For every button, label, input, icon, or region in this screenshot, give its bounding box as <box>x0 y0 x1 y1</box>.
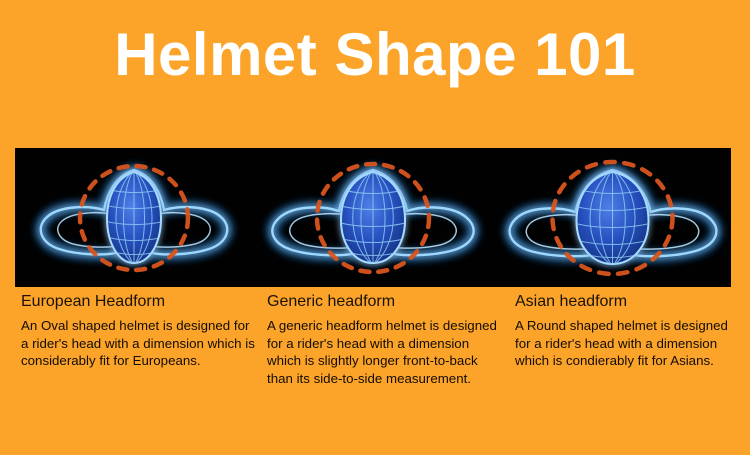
caption-heading-generic: Generic headform <box>267 292 505 312</box>
caption-row: European Headform An Oval shaped helmet … <box>0 292 750 442</box>
caption-body-generic: A generic headform helmet is designed fo… <box>267 317 505 387</box>
caption-asian: Asian headform A Round shaped helmet is … <box>515 292 740 370</box>
caption-body-european: An Oval shaped helmet is designed for a … <box>21 317 256 370</box>
helmet-shape-infographic: Helmet Shape 101 <box>0 0 750 455</box>
caption-generic: Generic headform A generic headform helm… <box>267 292 505 387</box>
caption-heading-european: European Headform <box>21 292 256 312</box>
intermediate-oval-headform-icon <box>254 148 493 287</box>
oval-headform-icon <box>15 148 254 287</box>
caption-body-asian: A Round shaped helmet is designed for a … <box>515 317 740 370</box>
headform-comparison-panel <box>15 148 731 287</box>
caption-european: European Headform An Oval shaped helmet … <box>21 292 256 370</box>
page-title: Helmet Shape 101 <box>0 22 750 88</box>
caption-heading-asian: Asian headform <box>515 292 740 312</box>
round-headform-icon <box>493 148 731 287</box>
